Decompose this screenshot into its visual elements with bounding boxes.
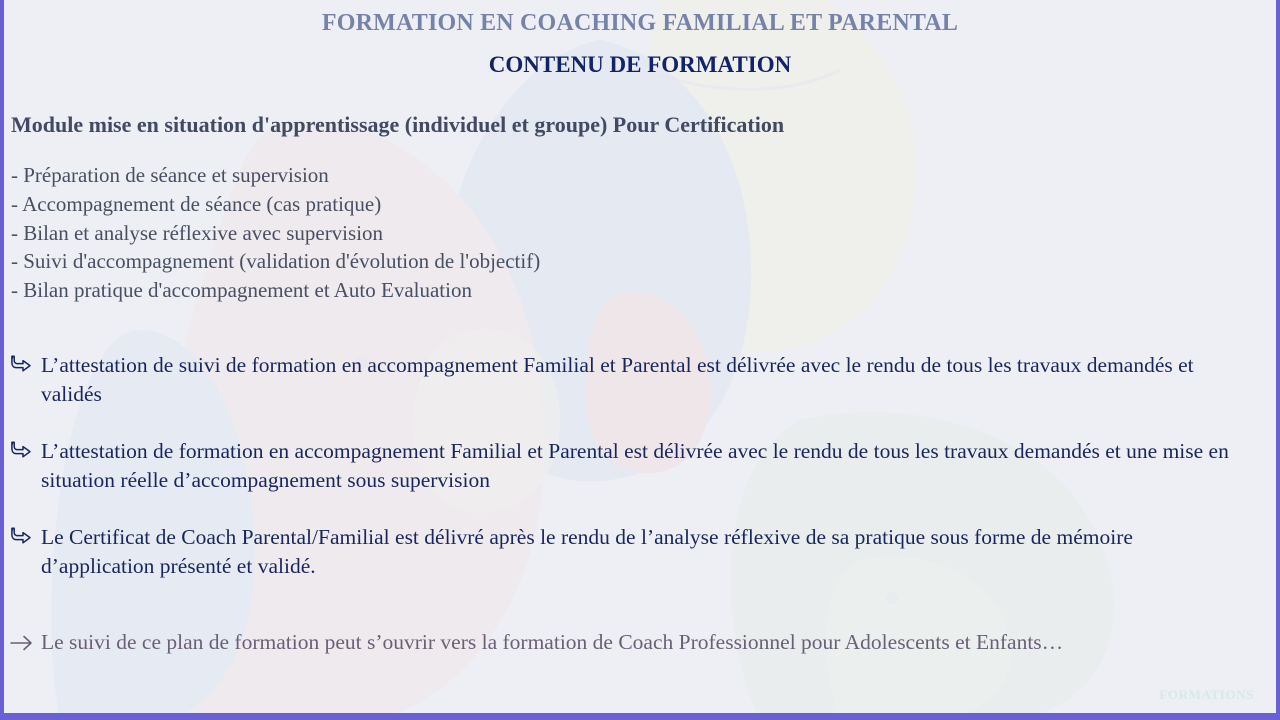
list-item: - Suivi d'accompagnement (validation d'é… (11, 247, 1280, 276)
pointing-hand-icon (10, 525, 34, 549)
closing-text: Le suivi de ce plan de formation peut s’… (41, 630, 1063, 654)
list-item: - Bilan et analyse réflexive avec superv… (11, 219, 1280, 248)
right-arrow-icon (9, 631, 35, 655)
list-item: - Accompagnement de séance (cas pratique… (11, 190, 1280, 219)
slide-border-bottom (0, 713, 1280, 720)
presentation-slide: FORMATION EN COACHING FAMILIAL ET PARENT… (0, 0, 1280, 720)
certification-text: L’attestation de formation en accompagne… (41, 439, 1229, 492)
list-item: - Bilan pratique d'accompagnement et Aut… (11, 276, 1280, 305)
closing-note: Le suivi de ce plan de formation peut s’… (0, 581, 1280, 657)
list-item: - Préparation de séance et supervision (11, 161, 1280, 190)
slide-border-right (1276, 0, 1280, 720)
certification-item: L’attestation de suivi de formation en a… (0, 351, 1280, 409)
module-item-list: - Préparation de séance et supervision -… (0, 138, 1280, 304)
certification-item: L’attestation de formation en accompagne… (0, 437, 1280, 495)
certification-text: L’attestation de suivi de formation en a… (41, 353, 1194, 406)
pointing-hand-icon (10, 353, 34, 377)
certification-item: Le Certificat de Coach Parental/Familial… (0, 523, 1280, 581)
module-heading: Module mise en situation d'apprentissage… (0, 78, 1280, 138)
slide-content: FORMATION EN COACHING FAMILIAL ET PARENT… (0, 0, 1280, 720)
slide-subtitle: CONTENU DE FORMATION (0, 38, 1280, 78)
certification-text: Le Certificat de Coach Parental/Familial… (41, 525, 1133, 578)
certification-list: L’attestation de suivi de formation en a… (0, 304, 1280, 581)
slide-watermark: FORMATIONS (1159, 687, 1254, 703)
pointing-hand-icon (10, 439, 34, 463)
slide-border-left (0, 0, 4, 720)
slide-main-title: FORMATION EN COACHING FAMILIAL ET PARENT… (0, 0, 1280, 38)
